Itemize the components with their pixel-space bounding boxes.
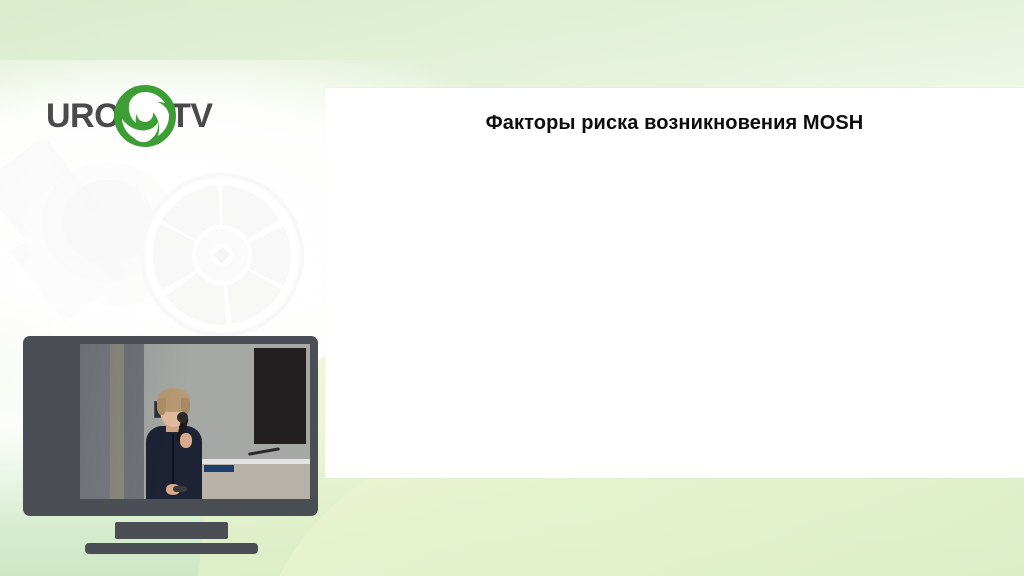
presenter-clicker-icon [173,486,187,492]
slide-title: Факторы риска возникновения MOSH [325,112,1024,135]
video-dark-screen-panel [254,348,306,444]
speaker-hair-left [157,398,166,415]
slide-body [365,168,984,458]
monitor-stand-base [85,543,258,554]
logo-text-tv: TV [170,99,212,133]
microphone-head-icon [177,412,188,423]
video-wall-strip-a [80,344,110,499]
video-monitor[interactable] [23,336,318,516]
presentation-slide: Факторы риска возникновения MOSH [325,88,1024,478]
speaker-hand-upper [180,433,192,448]
video-wall-strip-b [110,344,124,499]
video-wall-strip-c [124,344,144,499]
urotv-logo[interactable]: URO TV [46,80,216,152]
monitor-stand-neck [115,522,228,539]
aperture-leaf-logo-icon [114,85,176,147]
video-lectern-sign [204,465,234,472]
video-thumbnail[interactable] [80,344,310,499]
logo-text-uro: URO [46,99,120,133]
video-lectern-edge [200,459,310,464]
slide-frame-root: URO TV Факторы риска возникновения MOSH [0,0,1024,576]
video-speaker [142,386,204,499]
